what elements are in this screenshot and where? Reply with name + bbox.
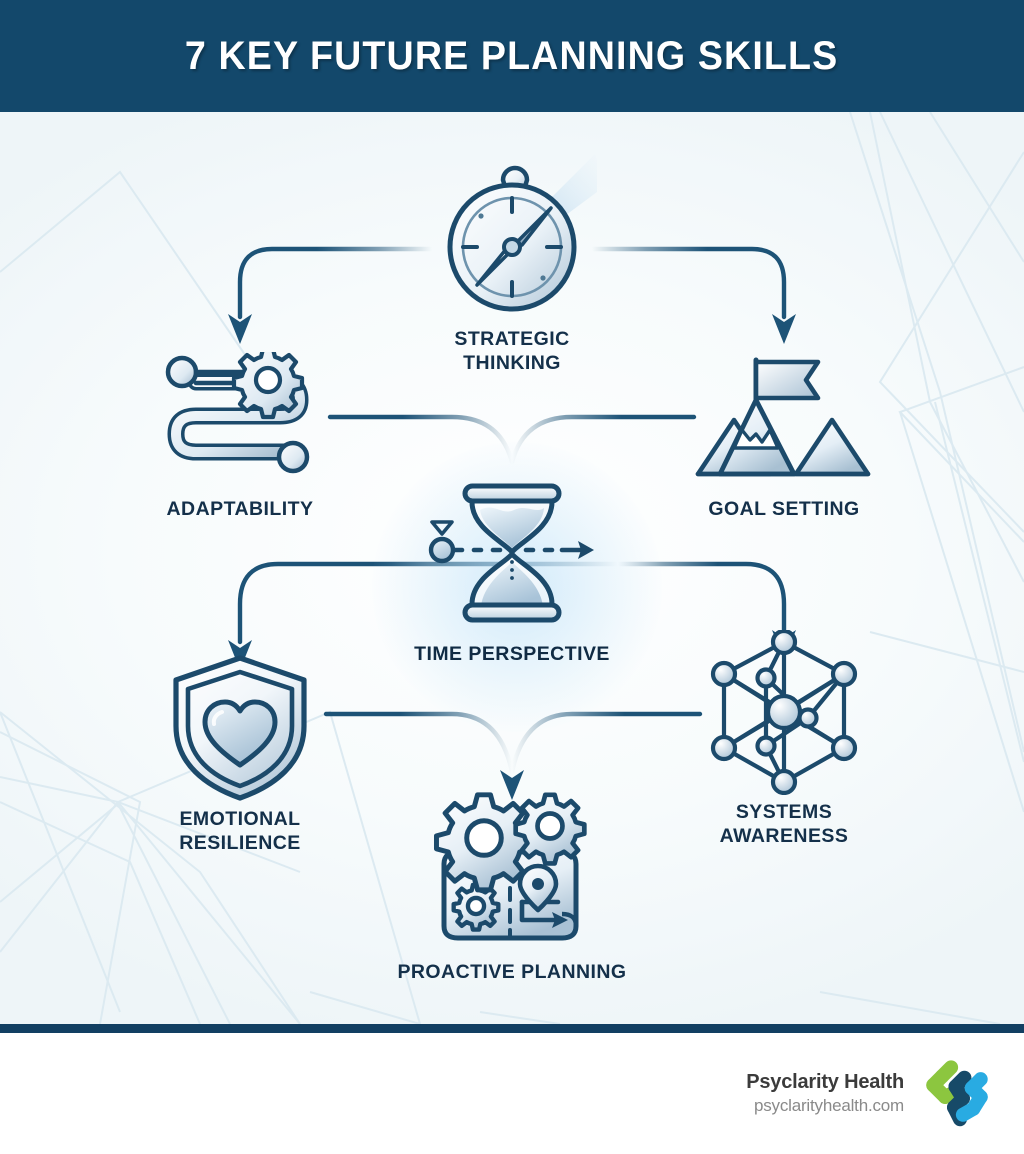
infographic-page: 7 KEY FUTURE PLANNING SKILLS <box>0 0 1024 1154</box>
skill-node-systems-awareness[interactable]: SYSTEMS AWARENESS <box>664 630 904 849</box>
footer-divider <box>0 1024 1024 1033</box>
skill-label: EMOTIONAL RESILIENCE <box>120 808 360 856</box>
skill-label: SYSTEMS AWARENESS <box>664 801 904 849</box>
page-title: 7 KEY FUTURE PLANNING SKILLS <box>185 34 838 79</box>
skill-node-goal-setting[interactable]: GOAL SETTING <box>664 352 904 522</box>
brand-url: psyclarityhealth.com <box>746 1096 904 1116</box>
skill-node-adaptability[interactable]: ADAPTABILITY <box>120 352 360 522</box>
footer-bar: Psyclarity Health psyclarityhealth.com <box>0 1033 1024 1154</box>
network-nodes-icon <box>704 630 864 795</box>
skill-label: PROACTIVE PLANNING <box>392 961 632 985</box>
skill-node-emotional-resilience[interactable]: EMOTIONAL RESILIENCE <box>120 652 360 856</box>
header-bar: 7 KEY FUTURE PLANNING SKILLS <box>0 0 1024 112</box>
brand-text-block: Psyclarity Health psyclarityhealth.com <box>746 1071 904 1116</box>
skill-label: TIME PERSPECTIVE <box>392 643 632 667</box>
skill-node-proactive-planning[interactable]: PROACTIVE PLANNING <box>392 790 632 985</box>
blueprint-gears-icon <box>422 790 602 955</box>
diagram-canvas: STRATEGIC THINKING <box>0 112 1024 1024</box>
skill-node-strategic-thinking[interactable]: STRATEGIC THINKING <box>392 152 632 376</box>
compass-icon <box>427 152 597 322</box>
hourglass-timeline-icon <box>402 472 622 637</box>
skill-label: STRATEGIC THINKING <box>392 328 632 376</box>
skill-label: ADAPTABILITY <box>120 498 360 522</box>
winding-path-gear-icon <box>160 352 320 492</box>
mountain-flag-icon <box>694 352 874 492</box>
skill-node-time-perspective[interactable]: TIME PERSPECTIVE <box>392 472 632 667</box>
psyclarity-logo-icon <box>920 1057 994 1131</box>
skill-label: GOAL SETTING <box>664 498 904 522</box>
brand-name: Psyclarity Health <box>746 1071 904 1094</box>
shield-heart-icon <box>165 652 315 802</box>
